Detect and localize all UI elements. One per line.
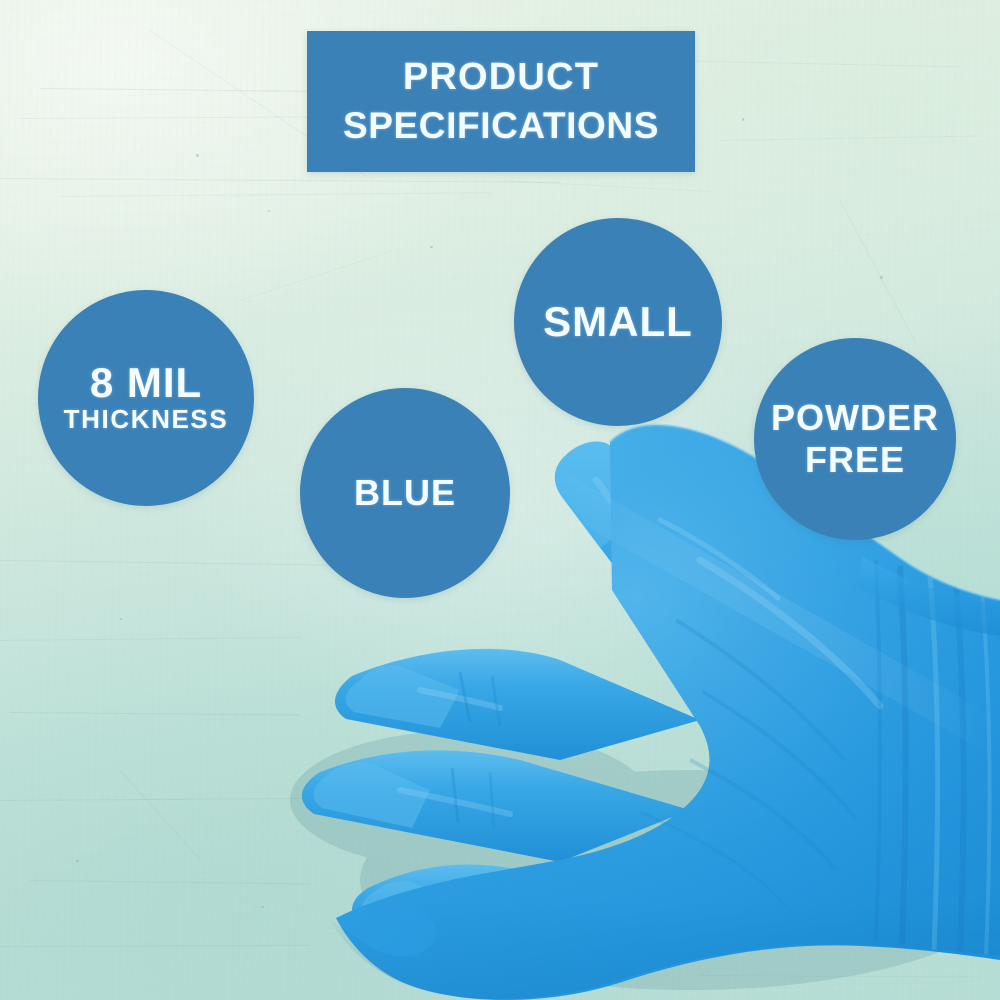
spec-circle-thickness: 8 MIL THICKNESS (38, 290, 254, 506)
spec-thickness-value: 8 MIL (90, 361, 202, 405)
spec-circle-powder-free: POWDER FREE (754, 338, 956, 540)
infographic-canvas: PRODUCT SPECIFICATIONS 8 MIL THICKNESS B… (0, 0, 1000, 1000)
spec-size-label: SMALL (543, 300, 693, 344)
spec-circle-size: SMALL (514, 218, 722, 426)
banner-title-line-2: SPECIFICATIONS (343, 102, 659, 151)
spec-powder-label-line-1: POWDER (771, 397, 939, 439)
product-specifications-banner: PRODUCT SPECIFICATIONS (307, 31, 695, 172)
spec-circle-color: BLUE (300, 388, 510, 598)
spec-powder-label-line-2: FREE (805, 439, 905, 481)
spec-color-label: BLUE (354, 472, 456, 514)
spec-thickness-label: THICKNESS (64, 405, 229, 435)
banner-title-line-1: PRODUCT (403, 52, 599, 102)
